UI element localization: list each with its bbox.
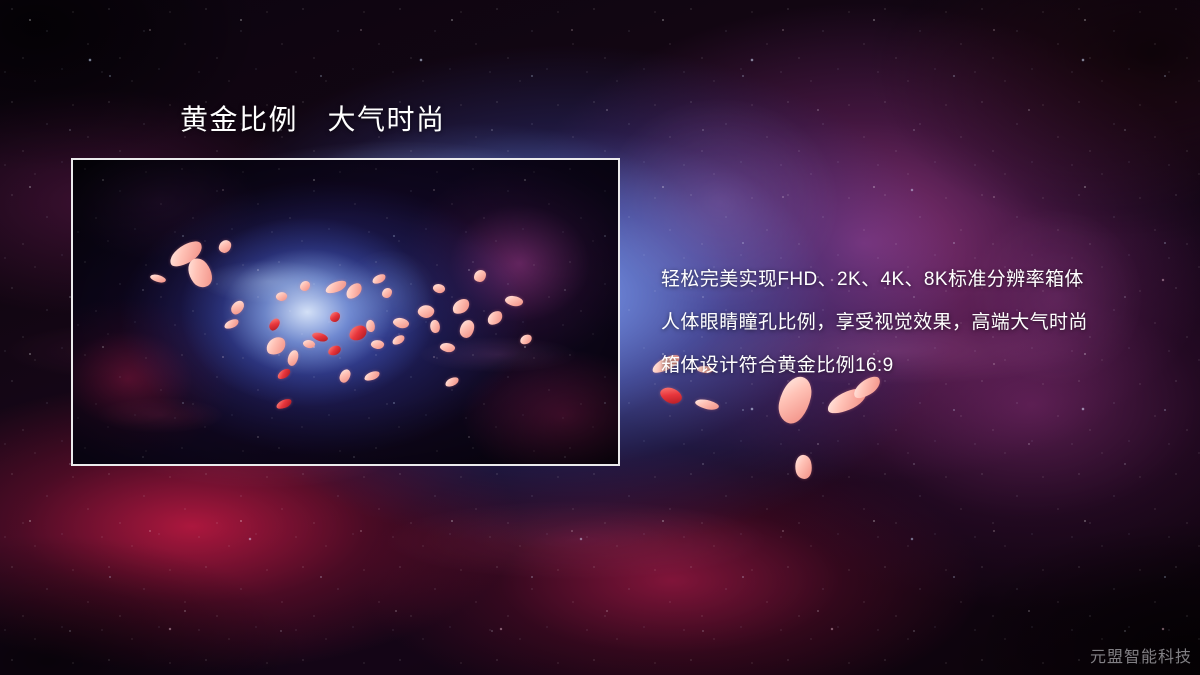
page-title: 黄金比例 大气时尚 xyxy=(180,103,446,137)
petal xyxy=(792,453,814,480)
body-copy: 轻松完美实现FHD、2K、4K、8K标准分辨率箱体 人体眼睛瞳孔比例，享受视觉效… xyxy=(661,258,1181,387)
body-line-1: 轻松完美实现FHD、2K、4K、8K标准分辨率箱体 xyxy=(661,258,1181,301)
body-line-3: 箱体设计符合黄金比例16:9 xyxy=(661,344,1181,387)
petal xyxy=(694,397,720,412)
presentation-slide: 黄金比例 大气时尚 轻松完美实现FHD、2K、4K、8K标准分辨率箱体 人体眼睛… xyxy=(0,0,1200,675)
body-line-2: 人体眼睛瞳孔比例，享受视觉效果，高端大气时尚 xyxy=(661,301,1181,344)
watermark: 元盟智能科技 xyxy=(1090,643,1192,667)
